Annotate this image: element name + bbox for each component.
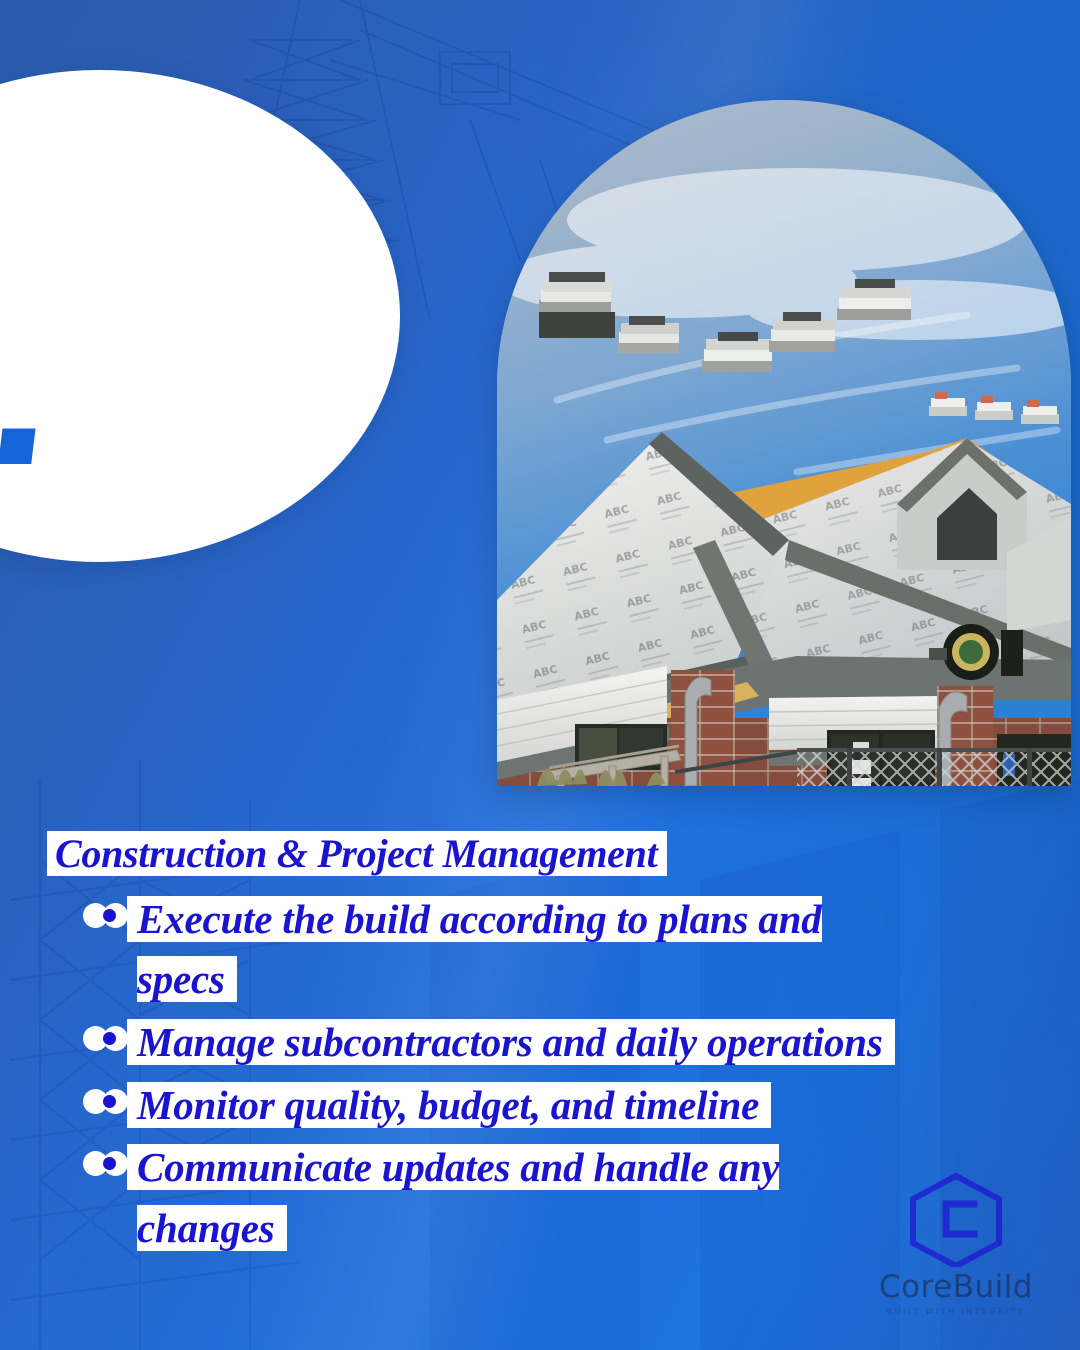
list-item: Manage subcontractors and daily operatio…	[95, 1012, 897, 1073]
brand-tagline: BUILT WITH INTEGRITY	[866, 1307, 1046, 1316]
brand-logo: CoreBuild BUILT WITH INTEGRITY	[866, 1171, 1046, 1316]
bullet-dot-icon	[103, 1032, 116, 1045]
bullet-text: Execute the build according to plans and…	[137, 896, 822, 1003]
list-item: Monitor quality, budget, and timeline	[95, 1075, 897, 1136]
hexagon-c-icon	[902, 1171, 1010, 1267]
step-number: 4.	[0, 306, 66, 494]
list-item: Execute the build according to plans and…	[95, 889, 897, 1010]
slide-canvas: ABC	[0, 0, 1080, 1350]
heading-wrap: Construction & Project Management	[0, 826, 1080, 883]
list-item: Communicate updates and handle any chang…	[95, 1137, 897, 1258]
bullet-dot-icon	[103, 1157, 116, 1170]
section-heading: Construction & Project Management	[55, 831, 657, 876]
bullet-text: Communicate updates and handle any chang…	[137, 1144, 779, 1251]
brand-wordmark: CoreBuild	[866, 1269, 1046, 1305]
bullet-dot-icon	[103, 909, 116, 922]
hero-photo: ABC	[497, 100, 1071, 786]
bullet-text: Manage subcontractors and daily operatio…	[137, 1019, 883, 1065]
bullet-dot-icon	[103, 1095, 116, 1108]
bullet-text: Monitor quality, budget, and timeline	[137, 1082, 759, 1128]
